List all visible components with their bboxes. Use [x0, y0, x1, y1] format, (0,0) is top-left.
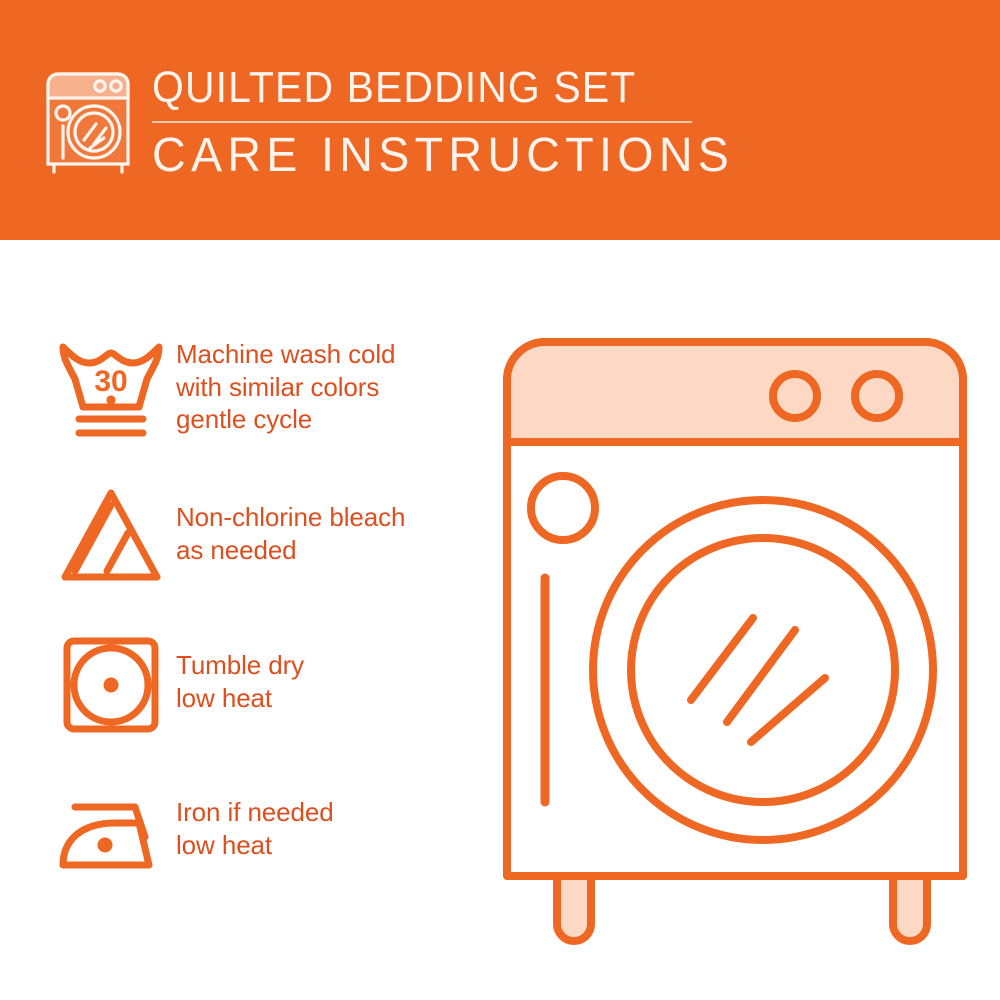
- care-label-wash: Machine wash cold with similar colors ge…: [176, 330, 395, 436]
- care-row-iron: Iron if needed low heat: [46, 774, 516, 922]
- page-subtitle: CARE INSTRUCTIONS: [152, 130, 734, 182]
- care-label-iron: Iron if needed low heat: [176, 774, 334, 861]
- care-instruction-list: 30 Machine wash cold with similar colors…: [46, 330, 516, 922]
- care-label-bleach: Non-chlorine bleach as needed: [176, 478, 405, 566]
- wash-temperature-value: 30: [94, 365, 127, 398]
- front-load-washing-machine-illustration: [495, 330, 975, 950]
- wash-tub-30-gentle-icon: 30: [46, 330, 176, 448]
- care-row-bleach: Non-chlorine bleach as needed: [46, 478, 516, 626]
- tumble-dry-low-heat-icon: [46, 626, 176, 744]
- washing-machine-icon: [42, 68, 134, 178]
- leg-right: [893, 876, 927, 941]
- care-label-tumble-dry: Tumble dry low heat: [176, 626, 304, 714]
- page-title: QUILTED BEDDING SET: [152, 64, 710, 112]
- header-text-block: QUILTED BEDDING SET CARE INSTRUCTIONS: [152, 62, 752, 182]
- care-instructions-infographic: QUILTED BEDDING SET CARE INSTRUCTIONS 30: [0, 0, 1000, 1000]
- care-row-wash: 30 Machine wash cold with similar colors…: [46, 330, 516, 478]
- triangle-non-chlorine-bleach-icon: [46, 478, 176, 596]
- iron-low-heat-icon: [46, 774, 176, 892]
- leg-left: [557, 876, 591, 941]
- header-band: QUILTED BEDDING SET CARE INSTRUCTIONS: [0, 0, 1000, 240]
- care-row-tumble-dry: Tumble dry low heat: [46, 626, 516, 774]
- title-divider: [152, 121, 692, 123]
- header-content: QUILTED BEDDING SET CARE INSTRUCTIONS: [42, 62, 752, 182]
